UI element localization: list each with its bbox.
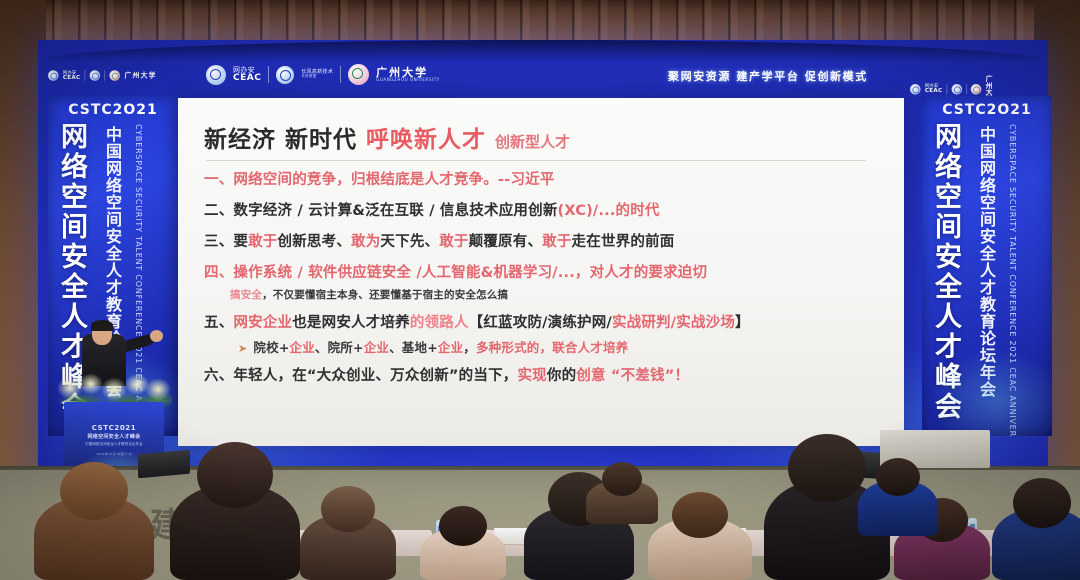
conference-stage-photo: 网办安 CEAC 广州大学 网办安 CEAC 长风高新技术 长风联盟	[0, 0, 1080, 580]
slide-line-5-sub-seg-1: 企业	[290, 340, 315, 355]
audience-person	[300, 514, 396, 580]
slide-line-6-seg-0: 年轻人，在“大众创业、万众创新”的当下，	[233, 368, 517, 384]
ceac-logo-en: CEAC	[925, 88, 943, 94]
changfeng-emblem-icon	[951, 84, 962, 95]
slide-line-5-seg-4: 实战研判/实战沙场	[612, 315, 735, 331]
logo-divider	[268, 66, 269, 83]
gzu-emblem-icon	[971, 84, 982, 95]
slide-line-3-seg-1: 敢于	[248, 234, 277, 250]
slide-line-5-number: 五、	[204, 315, 233, 331]
slide-line-4: 四、操作系统 / 软件供应链安全 /人工智能&机器学习/...，对人才的要求迫切	[204, 264, 884, 282]
slide-line-6-seg-1: 实现	[517, 368, 546, 384]
slide-line-5-sub-seg-6: ，	[463, 340, 476, 355]
gzu-logo-text: 广州大学	[124, 72, 156, 79]
slide-line-5-seg-0: 网安企业	[233, 315, 292, 331]
slide-line-5-seg-3: 【红蓝攻防/演练护网/	[469, 315, 612, 331]
speaker-hand	[150, 330, 163, 342]
slide-line-2-text-dark: 数字经济 / 云计算&泛在互联 / 信息技术应用创新	[233, 203, 557, 219]
audience-head	[1013, 478, 1071, 528]
ceac-logo-text: 网办安 CEAC	[925, 84, 943, 94]
logo-divider	[85, 70, 86, 81]
slide-line-5-sub-seg-5: 企业	[438, 340, 463, 355]
audience-head	[602, 462, 642, 496]
slide-line-3-seg-2: 创新思考、	[278, 234, 352, 250]
slide-line-3-seg-4: 天下先、	[380, 234, 439, 250]
projection-screen: 新经济 新时代 呼唤新人才 创新型人才 一、网络空间的竞争，归根结底是人才竞争。…	[178, 98, 904, 446]
bullet-arrow-icon: ➤	[238, 342, 247, 355]
slide-title-small: 创新型人才	[495, 133, 570, 151]
slide-line-6: 六、年轻人，在“大众创业、万众创新”的当下，实现你的创意 “不差钱”！	[204, 367, 884, 385]
slide-line-1-text: 网络空间的竞争，归根结底是人才竞争。--习近平	[233, 172, 554, 188]
gzu-emblem-icon	[110, 70, 121, 81]
audience-person-back-row	[858, 480, 938, 536]
slide-line-4-text: 操作系统 / 软件供应链安全 /人工智能&机器学习/...，对人才的要求迫切	[233, 265, 707, 281]
slide-line-4-sub-red: 搞安全	[230, 289, 262, 301]
stage-monitor-left	[138, 450, 190, 479]
slide-line-2: 二、数字经济 / 云计算&泛在互联 / 信息技术应用创新(XC)/...的时代	[204, 202, 884, 220]
slide-line-5: 五、网安企业也是网安人才培养的领路人【红蓝攻防/演练护网/实战研判/实战沙场】	[204, 314, 884, 332]
podium-line-2: 网络空间安全人才峰会	[64, 433, 164, 440]
slide-line-1: 一、网络空间的竞争，归根结底是人才竞争。--习近平	[204, 171, 884, 189]
changfeng-logo-sub: 长风联盟	[301, 75, 333, 79]
slide-line-6-seg-2: 你的	[547, 368, 576, 384]
audience-head	[876, 458, 920, 496]
slide-title-highlight: 呼唤新人才	[366, 127, 486, 153]
logo-group-center: 网办安 CEAC 长风高新技术 长风联盟 广州大学 GUANGZHOU UNIV…	[206, 64, 440, 85]
slide-line-6-number: 六、	[204, 368, 233, 384]
slide-line-5-sub-seg-7: 多种形式的，联合人才培养	[476, 340, 628, 355]
gzu-emblem-icon	[348, 64, 369, 85]
slide-line-5-sub: ➤院校+企业、院所+企业、基地+企业，多种形式的，联合人才培养	[238, 337, 884, 356]
logo-divider	[340, 66, 341, 83]
slide-line-5-sub-seg-3: 企业	[364, 340, 389, 355]
slide-line-1-number: 一、	[204, 172, 233, 188]
ceac-emblem-icon	[48, 70, 59, 81]
gzu-logo-en: GUANGZHOU UNIVERSITY	[376, 78, 440, 82]
ceac-emblem-icon	[910, 84, 921, 95]
audience-person-back-row	[586, 480, 658, 524]
audience-person	[170, 484, 300, 580]
slide-line-4-sub-rest: ，不仅要懂宿主本身、还要懂基于宿主的安全怎么搞	[262, 289, 508, 301]
slide-line-5-sub-seg-4: 、基地+	[389, 340, 438, 355]
slide-line-5-sub-seg-0: 院校+	[253, 340, 289, 355]
slide-line-4-number: 四、	[204, 265, 233, 281]
slide-line-3-seg-0: 要	[233, 234, 248, 250]
banner-glow-right	[922, 326, 1052, 436]
slide-line-2-number: 二、	[204, 203, 233, 219]
right-banner: CSTC2O21 网络空间安全人才峰会 中国网络空间安全人才教育论坛年会 CYB…	[922, 96, 1052, 436]
banner-code-left: CSTC2O21	[68, 102, 158, 118]
backdrop-logo-bar: 网办安 CEAC 广州大学 网办安 CEAC 长风高新技术 长风联盟	[38, 58, 1048, 96]
logo-group-left: 网办安 CEAC 广州大学	[48, 70, 157, 81]
audience-person	[992, 508, 1080, 580]
slide-line-3-seg-5: 敢于	[439, 234, 468, 250]
ceac-logo-en: CEAC	[233, 74, 261, 83]
slide-line-3: 三、要敢于创新思考、敢为天下先、敢于颠覆原有、敢于走在世界的前面	[204, 233, 884, 251]
slide-line-5-seg-2: 的领路人	[410, 315, 469, 331]
slide-title-main: 新经济 新时代	[204, 127, 357, 153]
audience-head	[788, 434, 866, 502]
slide-title: 新经济 新时代 呼唤新人才 创新型人才	[204, 120, 884, 154]
audience-head	[197, 442, 273, 508]
audience-head	[321, 486, 375, 532]
slide-line-2-text-red: (XC)/...的时代	[558, 203, 660, 219]
slide-line-6-seg-3: 创意 “不差钱”！	[576, 368, 689, 384]
audience-head	[60, 462, 128, 520]
slide-title-rule	[206, 160, 866, 161]
changfeng-emblem-icon	[276, 66, 294, 84]
ceac-logo-text: 网办安 CEAC	[233, 67, 261, 83]
slide-line-3-seg-8: 走在世界的前面	[572, 234, 675, 250]
slide-line-5-seg-1: 也是网安人才培养	[292, 315, 410, 331]
slide-line-3-seg-3: 敢为	[351, 234, 380, 250]
audience-person	[648, 518, 752, 580]
ceac-logo-en: CEAC	[63, 75, 81, 81]
backdrop-slogan: 聚网安资源 建产学平台 促创新模式	[668, 68, 868, 84]
podium-line-1: CSTC2021	[64, 424, 164, 432]
slide-line-3-number: 三、	[204, 234, 233, 250]
slide-line-3-seg-6: 颠覆原有、	[469, 234, 543, 250]
changfeng-emblem-icon	[90, 70, 101, 81]
audience-person	[420, 528, 506, 580]
logo-divider	[105, 70, 106, 81]
banner-code-right: CSTC2O21	[942, 102, 1032, 118]
ceac-logo-text: 网办安 CEAC	[63, 71, 81, 81]
audience-head	[439, 506, 487, 546]
slide-line-5-sub-seg-2: 、院所+	[315, 340, 364, 355]
speaker-hair	[91, 320, 113, 331]
audience-person	[34, 496, 154, 580]
slide-line-3-seg-7: 敢于	[542, 234, 571, 250]
slide-line-4-sub: 搞安全，不仅要懂宿主本身、还要懂基于宿主的安全怎么搞	[230, 287, 884, 302]
audience-head	[672, 492, 728, 538]
presentation-slide: 新经济 新时代 呼唤新人才 创新型人才 一、网络空间的竞争，归根结底是人才竞争。…	[178, 98, 904, 446]
ceac-emblem-icon	[206, 65, 226, 85]
slide-line-5-seg-5: 】	[735, 315, 750, 331]
changfeng-logo-text: 长风高新技术 长风联盟	[301, 70, 333, 79]
gzu-logo-cn: 广州大学	[124, 72, 156, 79]
gzu-logo-text: 广州大学 GUANGZHOU UNIVERSITY	[376, 67, 440, 82]
